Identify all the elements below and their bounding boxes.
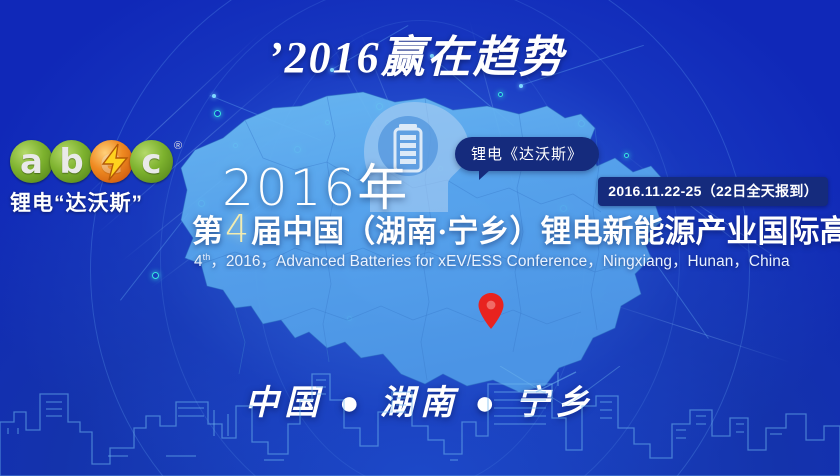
- logo-subtitle: 锂电“达沃斯”: [10, 187, 190, 217]
- title-en-ordinal: 4: [194, 253, 203, 270]
- lightning-bolt-icon: [98, 143, 132, 181]
- title-suffix: 届中国（湖南·宁乡）锂电新能源产业国际高峰论坛: [251, 214, 840, 249]
- main-title-cn: 第4届中国（湖南·宁乡）锂电新能源产业国际高峰论坛: [192, 206, 840, 251]
- registered-mark-icon: ®: [174, 140, 182, 152]
- title-edition-number: 4: [223, 207, 251, 251]
- date-badge: 2016.11.22-25（22日全天报到）: [598, 177, 828, 206]
- poster-canvas: a b e c ® 锂电“达沃斯” ’2016赢在趋势 2016年 锂电《达沃斯…: [0, 0, 840, 476]
- abec-logo: a b e c ® 锂电“达沃斯”: [10, 140, 190, 217]
- tagline-speech-bubble: 锂电《达沃斯》: [455, 137, 599, 171]
- calligraphy-headline: ’2016赢在趋势: [268, 27, 568, 89]
- main-title-en: 4th，2016，Advanced Batteries for xEV/ESS …: [194, 249, 840, 271]
- abec-letters: a b e c ®: [10, 140, 190, 183]
- title-en-rest: ，2016，Advanced Batteries for xEV/ESS Con…: [210, 253, 789, 270]
- title-prefix: 第: [192, 214, 223, 249]
- location-pin-ningxiang: [478, 293, 504, 329]
- logo-letter-b: b: [50, 140, 93, 183]
- logo-letter-a: a: [10, 140, 53, 183]
- logo-letter-e: e: [90, 140, 133, 183]
- logo-letter-c: c: [130, 140, 173, 183]
- city-skyline-outline: [0, 366, 840, 476]
